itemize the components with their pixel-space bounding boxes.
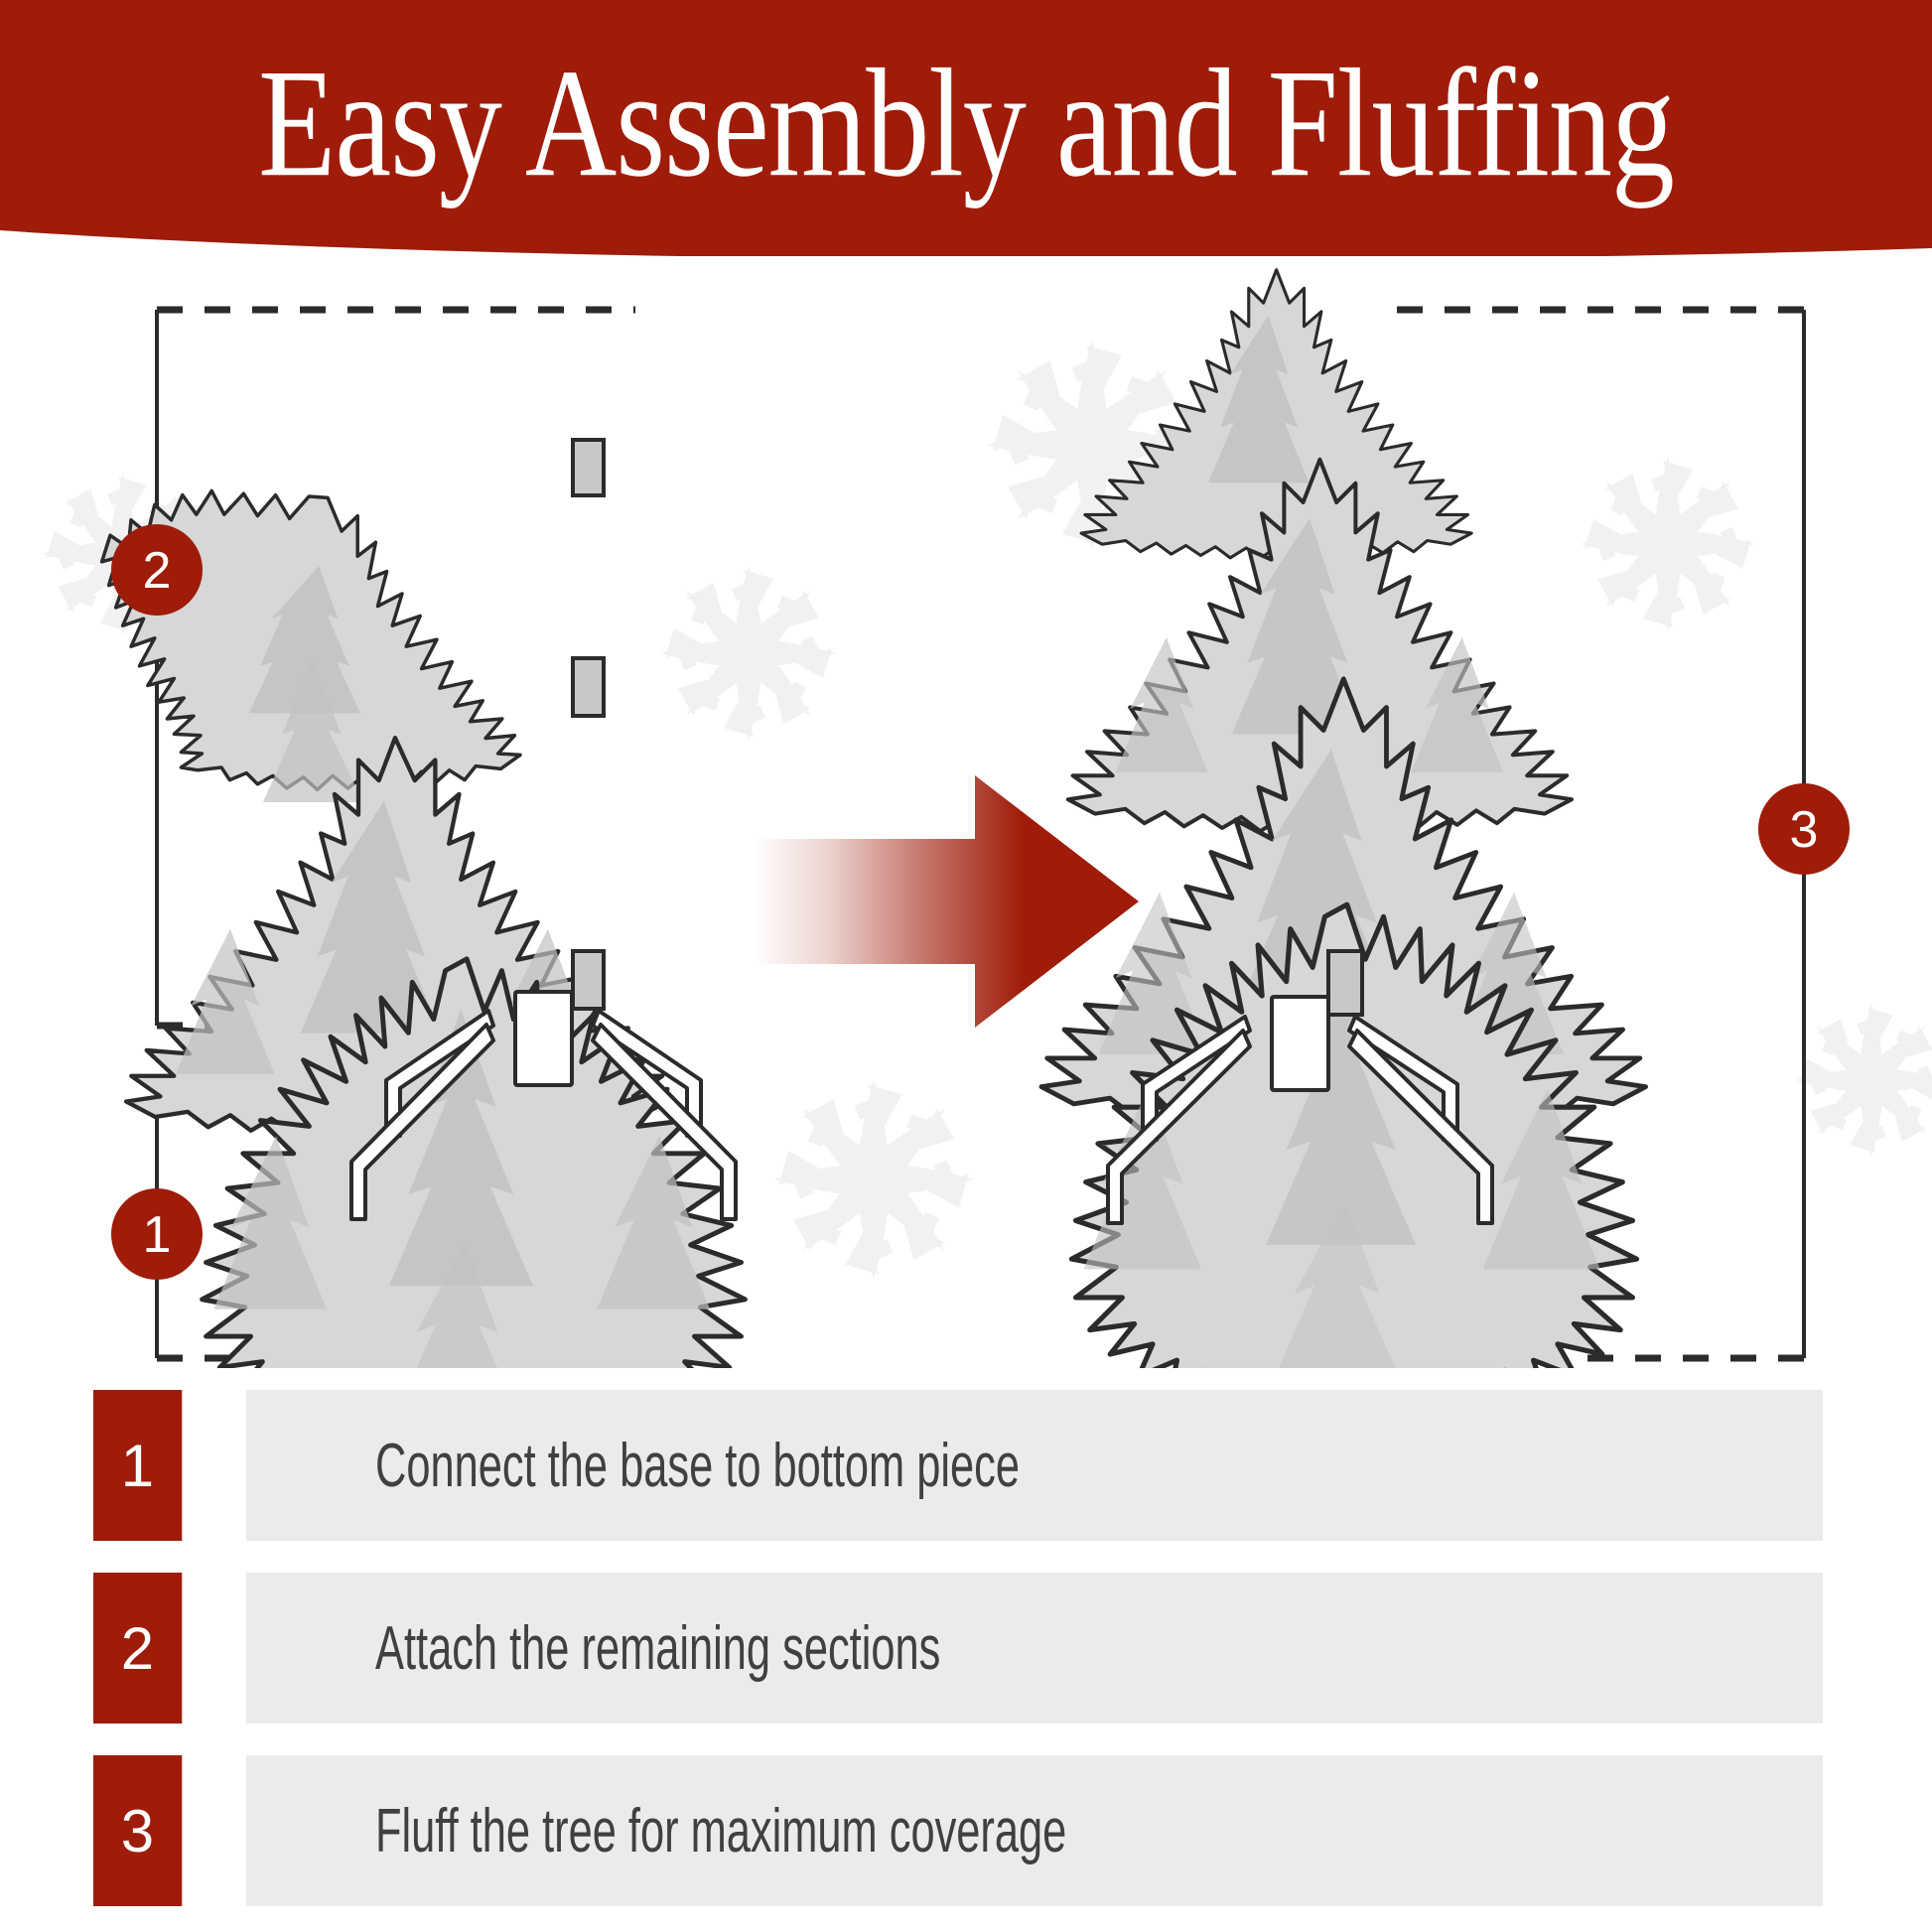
marker-badge-2[interactable]: 2 (111, 524, 203, 616)
tree-bottom-pole (573, 951, 604, 1009)
step-number-label: 1 (121, 1432, 154, 1500)
step-text-bar: Fluff the tree for maximum coverage (246, 1755, 1823, 1906)
marker-label-1: 1 (143, 1206, 172, 1264)
snowflake-icon (660, 565, 836, 741)
page-title: Easy Assembly and Fluffing (0, 42, 1932, 205)
marker-label-2: 2 (143, 542, 172, 600)
transform-arrow (755, 775, 1139, 1028)
step-description: Connect the base to bottom piece (375, 1431, 1020, 1501)
step-text-bar: Attach the remaining sections (246, 1573, 1823, 1724)
step-description: Attach the remaining sections (375, 1613, 940, 1684)
step-number-badge: 3 (93, 1755, 182, 1906)
step-number-badge: 2 (93, 1573, 182, 1724)
step-text-bar: Connect the base to bottom piece (246, 1390, 1823, 1541)
marker-badge-1[interactable]: 1 (111, 1188, 203, 1280)
step-number-label: 2 (121, 1614, 154, 1683)
steps-list: 1 Connect the base to bottom piece 2 Att… (0, 1390, 1932, 1932)
marker-badge-3[interactable]: 3 (1758, 783, 1850, 875)
assembled-tree-trunk (1328, 951, 1362, 1015)
infographic-canvas: Easy Assembly and Fluffing (0, 0, 1932, 1932)
tree-top-pole (573, 440, 604, 495)
step-number-badge: 1 (93, 1390, 182, 1541)
diagram-svg: 2 1 3 (0, 256, 1932, 1368)
header-banner: Easy Assembly and Fluffing (0, 0, 1932, 256)
snowflake-icon (1795, 1004, 1932, 1157)
snowflake-icon (1580, 456, 1755, 631)
step-number-label: 3 (121, 1797, 154, 1865)
tree-section-top (102, 440, 604, 802)
step-row[interactable]: 1 Connect the base to bottom piece (0, 1390, 1932, 1541)
step-description: Fluff the tree for maximum coverage (375, 1796, 1066, 1866)
tree-middle-pole (573, 658, 604, 716)
step-row[interactable]: 2 Attach the remaining sections (0, 1573, 1932, 1724)
assembly-diagram: 2 1 3 (0, 256, 1932, 1368)
stand-center-post (515, 992, 572, 1085)
stand-right-center-post (1272, 997, 1328, 1090)
marker-label-3: 3 (1790, 801, 1819, 859)
snowflake-icon (773, 1079, 974, 1280)
step-row[interactable]: 3 Fluff the tree for maximum coverage (0, 1755, 1932, 1906)
